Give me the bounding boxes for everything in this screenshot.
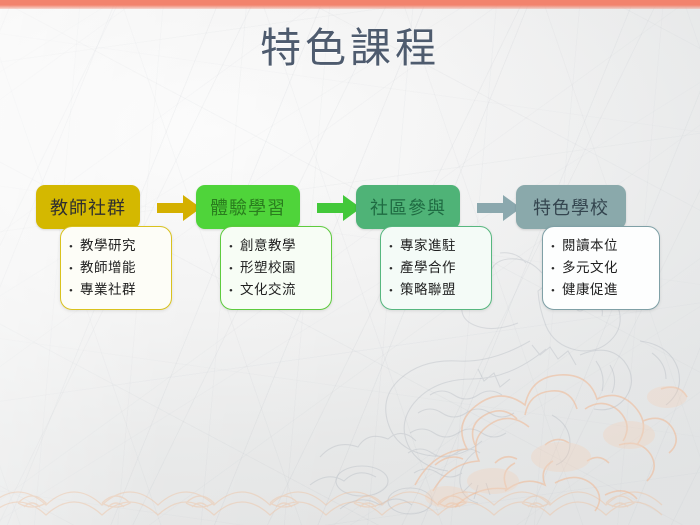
bullet-dot-icon: • <box>551 239 562 257</box>
bullet-dot-icon: • <box>229 283 240 301</box>
bullet-dot-icon: • <box>389 261 400 279</box>
diagram-group-1[interactable]: 體驗學習 •創意教學 •形塑校園 •文化交流 <box>196 185 336 315</box>
bullet-text: 多元文化 <box>562 257 618 279</box>
bullet-text: 形塑校園 <box>240 257 296 279</box>
bullet-text: 文化交流 <box>240 279 296 301</box>
bullet-dot-icon: • <box>389 239 400 257</box>
list-item: •教師增能 <box>69 257 171 279</box>
bullet-text: 教學研究 <box>80 235 136 257</box>
bullet-text: 專家進駐 <box>400 235 456 257</box>
bullet-text: 健康促進 <box>562 279 618 301</box>
diagram-group-0[interactable]: 教師社群 •教學研究 •教師增能 •專業社群 <box>36 185 176 315</box>
bullet-dot-icon: • <box>229 239 240 257</box>
list-item: •閱讀本位 <box>551 235 659 257</box>
list-item: •多元文化 <box>551 257 659 279</box>
group-body-1: •創意教學 •形塑校園 •文化交流 <box>220 226 332 310</box>
page-title: 特色課程 <box>0 26 700 71</box>
group-header-1[interactable]: 體驗學習 <box>196 185 300 229</box>
bullet-text: 閱讀本位 <box>562 235 618 257</box>
bullet-text: 創意教學 <box>240 235 296 257</box>
bullet-text: 策略聯盟 <box>400 279 456 301</box>
list-item: •文化交流 <box>229 279 331 301</box>
bullet-dot-icon: • <box>551 261 562 279</box>
bullet-text: 專業社群 <box>80 279 136 301</box>
list-item: •健康促進 <box>551 279 659 301</box>
bullet-dot-icon: • <box>69 283 80 301</box>
list-item: •專家進駐 <box>389 235 491 257</box>
top-accent-band <box>0 0 700 9</box>
group-body-0: •教學研究 •教師增能 •專業社群 <box>60 226 172 310</box>
group-header-2[interactable]: 社區參與 <box>356 185 460 229</box>
process-diagram: 教師社群 •教學研究 •教師增能 •專業社群 體驗學習 •創意教學 •形塑校園 … <box>0 185 700 320</box>
bullet-text: 教師增能 <box>80 257 136 279</box>
list-item: •策略聯盟 <box>389 279 491 301</box>
group-header-0[interactable]: 教師社群 <box>36 185 140 229</box>
bullet-dot-icon: • <box>69 261 80 279</box>
group-header-3[interactable]: 特色學校 <box>516 185 626 229</box>
list-item: •創意教學 <box>229 235 331 257</box>
diagram-group-3[interactable]: 特色學校 •閱讀本位 •多元文化 •健康促進 <box>516 185 664 315</box>
bullet-dot-icon: • <box>69 239 80 257</box>
bullet-dot-icon: • <box>389 283 400 301</box>
group-body-3: •閱讀本位 •多元文化 •健康促進 <box>542 226 660 310</box>
slide-canvas: 特色課程 教師社群 •教學研究 •教師增能 •專業社群 體驗學習 •創意教學 •… <box>0 0 700 525</box>
list-item: •形塑校園 <box>229 257 331 279</box>
bullet-dot-icon: • <box>229 261 240 279</box>
list-item: •教學研究 <box>69 235 171 257</box>
bullet-dot-icon: • <box>551 283 562 301</box>
group-body-2: •專家進駐 •產學合作 •策略聯盟 <box>380 226 492 310</box>
bullet-text: 產學合作 <box>400 257 456 279</box>
list-item: •專業社群 <box>69 279 171 301</box>
list-item: •產學合作 <box>389 257 491 279</box>
diagram-group-2[interactable]: 社區參與 •專家進駐 •產學合作 •策略聯盟 <box>356 185 496 315</box>
